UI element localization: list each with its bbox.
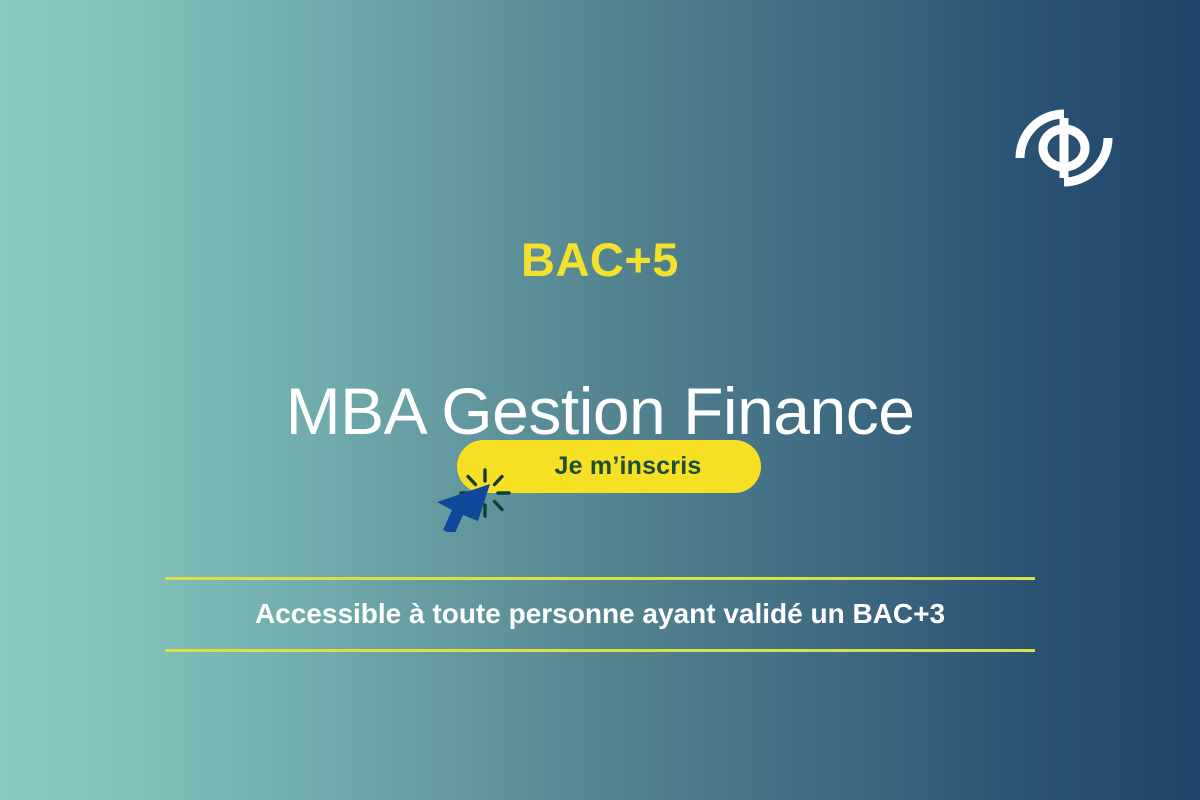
eyebrow-label: BAC+5 xyxy=(0,236,1200,283)
divider-top xyxy=(165,577,1035,580)
hero-content: BAC+5 MBA Gestion Finance Je m’inscris xyxy=(0,0,1200,800)
cta-container: Je m’inscris xyxy=(457,440,761,493)
divider-bottom xyxy=(165,649,1035,652)
page-title: MBA Gestion Finance xyxy=(0,376,1200,447)
register-button[interactable]: Je m’inscris xyxy=(457,440,761,493)
tagline: Accessible à toute personne ayant validé… xyxy=(0,599,1200,630)
promo-banner: BAC+5 MBA Gestion Finance Je m’inscris xyxy=(0,0,1200,800)
